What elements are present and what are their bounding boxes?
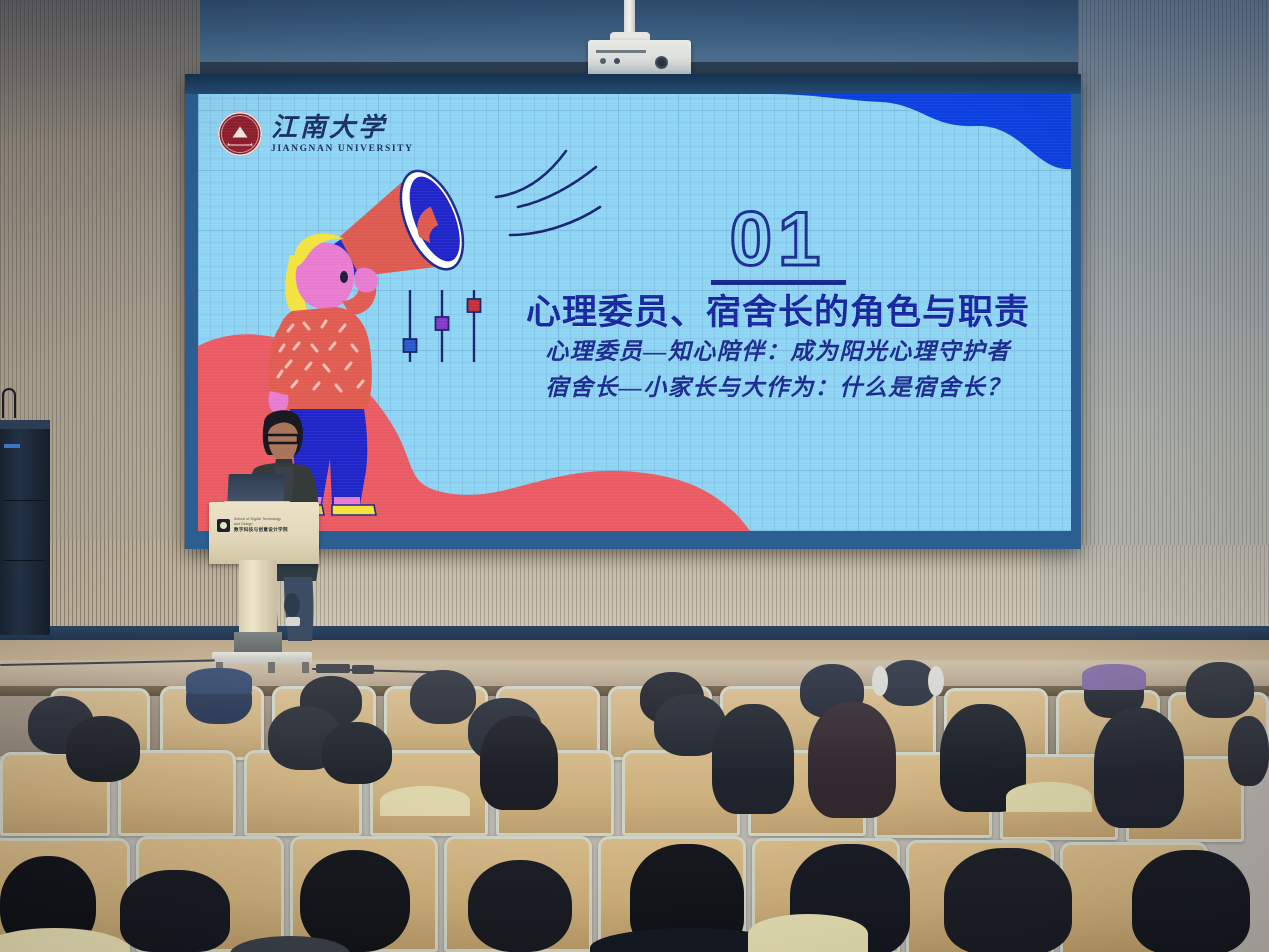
av-rack-seam [3,500,46,501]
audience-shoulders [1006,782,1092,812]
projected-slide: 江南大学 JIANGNAN UNIVERSITY [198,94,1071,531]
lecture-hall-scene: 江南大学 JIANGNAN UNIVERSITY [0,0,1269,952]
audience-shoulders [380,786,470,816]
av-equipment-rack [0,420,50,635]
av-rack-top [0,420,50,429]
slide-title: 心理委员、宿舍长的角色与职责 [498,293,1058,332]
projector-indicator-icon [600,58,606,64]
audience-head [944,848,1072,952]
rack-cable [2,388,16,418]
slide-branding: 江南大学 JIANGNAN UNIVERSITY [218,112,414,156]
audience-head [712,704,794,814]
audience-head [410,670,476,724]
audience-head [1186,662,1254,718]
projection-screen-header [185,74,1081,94]
slide-text-block: 01 心理委员、宿舍长的角色与职责 心理委员—知心陪伴：成为阳光心理守护者 宿舍… [498,204,1058,404]
presenter-laptop-screen [227,474,285,504]
audience-head [480,716,558,810]
podium: School of Digital Technology and Design … [209,502,319,564]
audience-head [300,850,410,952]
jiangnan-university-seal-icon [218,112,262,156]
av-rack-seam [3,560,46,561]
av-rack-led-indicator [4,444,20,448]
audience-head [468,860,572,952]
podium-sign-en-line-2: and Design [234,523,288,526]
university-name-cn: 江南大学 [271,115,414,141]
audience-area [0,660,1269,952]
headphone-cup-icon [872,666,888,696]
audience-cap [186,668,252,694]
audience-shoulders [748,914,868,952]
audience-head [120,870,230,952]
audience-head [1228,716,1269,786]
audience-head [66,716,140,782]
projector-mount-pole [624,0,635,36]
headphone-cup-icon [928,666,944,696]
school-logo-icon [217,519,230,532]
podium-sign-cn: 数字科技与创意设计学院 [234,528,288,533]
audience-head [1094,708,1184,828]
audience-head [1132,850,1250,952]
podium-school-sign: School of Digital Technology and Design … [217,518,288,532]
podium-sign-en-line-1: School of Digital Technology [234,518,288,521]
audience-cap [1082,664,1146,690]
section-number: 01 [498,204,1058,276]
audience-head [808,702,896,818]
university-name-en: JIANGNAN UNIVERSITY [271,144,414,154]
slide-subtitle-2: 宿舍长—小家长与大作为：什么是宿舍长？ [498,373,1058,404]
slide-subtitle-1: 心理委员—知心陪伴：成为阳光心理守护者 [498,337,1058,368]
projector-indicator-icon [614,58,620,64]
projector-lens-icon [655,56,668,69]
projector-vent [596,50,646,53]
audience-head [322,722,392,784]
